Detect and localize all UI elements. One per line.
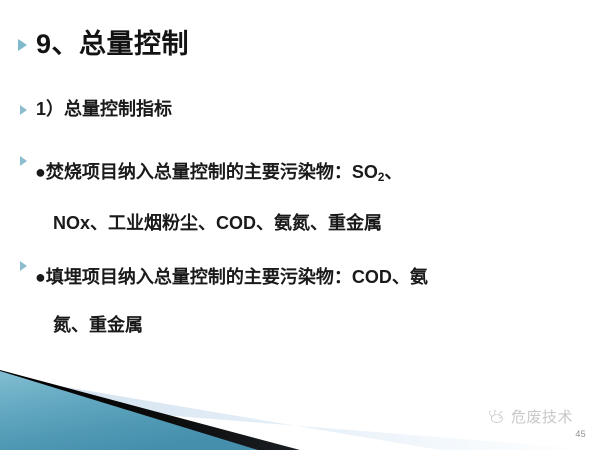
bottom-diagonal-decoration bbox=[0, 340, 600, 450]
triangle-bullet-icon bbox=[20, 156, 27, 166]
slide-title-row: 9、总量控制 bbox=[18, 30, 189, 60]
triangle-bullet-icon bbox=[20, 105, 27, 115]
bullet-line: ●填埋项目纳入总量控制的主要污染物：COD、氨 bbox=[35, 253, 428, 301]
slide-subtitle: 1）总量控制指标 bbox=[36, 99, 172, 121]
bullet-line: 氮、重金属 bbox=[35, 301, 428, 349]
bullet-text-before-sub: 焚烧项目纳入总量控制的主要污染物：SO bbox=[46, 162, 378, 182]
page-number: 45 bbox=[575, 429, 586, 439]
page-title: 9、总量控制 bbox=[36, 30, 189, 60]
watermark: 危废技术 bbox=[487, 406, 573, 427]
watermark-text: 危废技术 bbox=[511, 406, 573, 427]
bullet-line: NOx、工业烟粉尘、COD、氨氮、重金属 bbox=[35, 199, 402, 247]
bullet-paragraph: ●填埋项目纳入总量控制的主要污染物：COD、氨 氮、重金属 bbox=[20, 253, 582, 349]
slide-subtitle-row: 1）总量控制指标 bbox=[20, 99, 172, 121]
bullet-paragraph: ●焚烧项目纳入总量控制的主要污染物：SO2、 NOx、工业烟粉尘、COD、氨氮、… bbox=[20, 148, 582, 247]
bullet-paragraph-body: ●填埋项目纳入总量控制的主要污染物：COD、氨 氮、重金属 bbox=[35, 253, 428, 349]
bullet-text-after-sub: 、 bbox=[384, 162, 402, 182]
bullet-line: ●焚烧项目纳入总量控制的主要污染物：SO2、 bbox=[35, 148, 402, 199]
triangle-bullet-icon bbox=[20, 261, 27, 271]
decoration-black-stripe bbox=[0, 370, 300, 450]
slide-canvas: 9、总量控制 1）总量控制指标 ●焚烧项目纳入总量控制的主要污染物：SO2、 N… bbox=[0, 0, 600, 450]
bullet-marker-dot: ● bbox=[35, 162, 46, 182]
decoration-teal-sheen bbox=[0, 371, 258, 450]
decoration-teal-wedge bbox=[0, 371, 258, 450]
chemical-subscript: 2 bbox=[378, 171, 385, 184]
triangle-bullet-icon bbox=[18, 39, 27, 51]
bullet-paragraph-body: ●焚烧项目纳入总量控制的主要污染物：SO2、 NOx、工业烟粉尘、COD、氨氮、… bbox=[35, 148, 402, 247]
brand-logo-icon bbox=[487, 409, 506, 425]
